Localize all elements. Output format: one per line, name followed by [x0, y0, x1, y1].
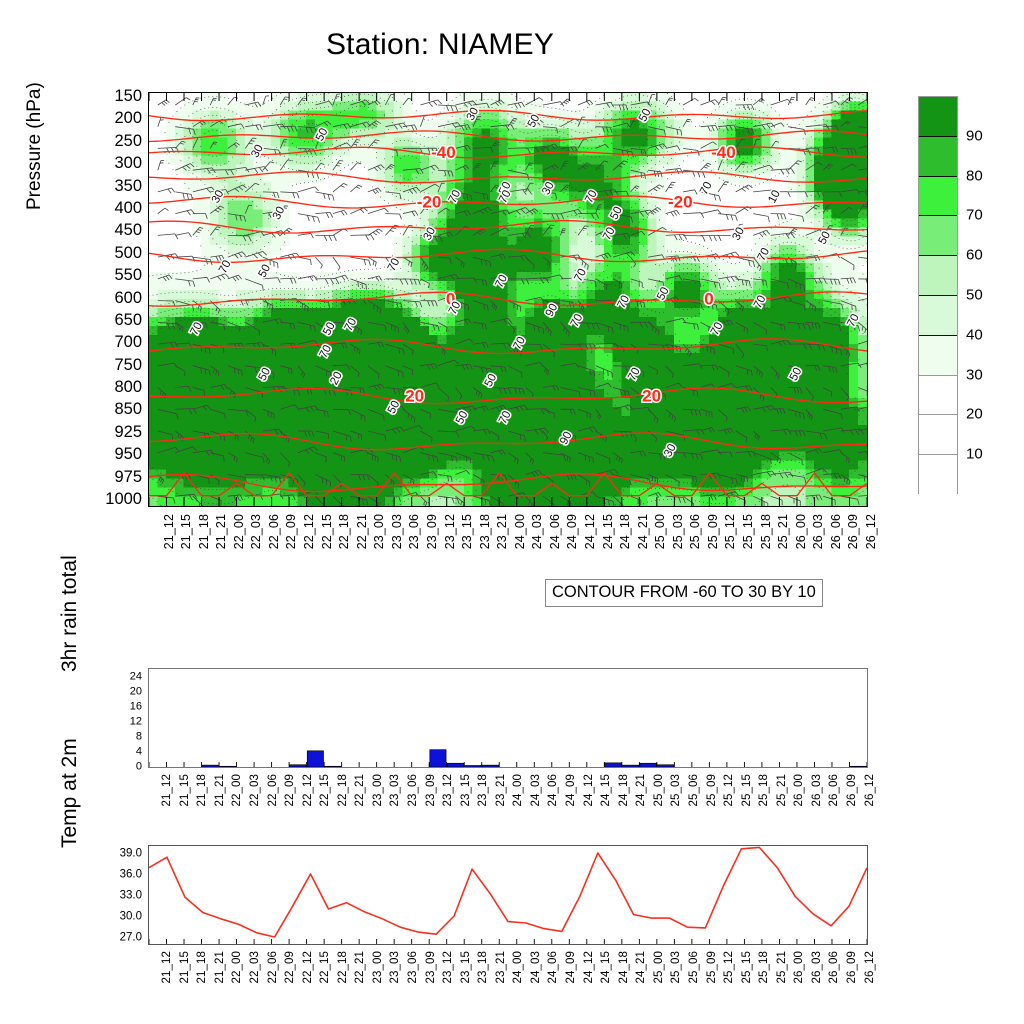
x-axis-label: 22_21: [354, 951, 366, 983]
x-axis-label: 22_09: [284, 774, 296, 806]
cross-section-x-axis: 21_1221_1521_1821_2122_0022_0322_0622_09…: [148, 512, 868, 574]
x-axis-label: 21_18: [196, 951, 208, 983]
x-axis-label: 24_03: [530, 514, 544, 549]
temp-tick-label: 39.0: [120, 849, 142, 861]
x-axis-label: 26_09: [846, 514, 860, 549]
colorbar-band: [919, 137, 957, 177]
x-axis-label: 22_00: [232, 514, 246, 549]
x-axis-label: 24_09: [565, 774, 577, 806]
rain-tick-label: 4: [136, 746, 142, 757]
pressure-tick-label: 950: [114, 446, 142, 463]
pressure-tick-label: 650: [114, 312, 142, 329]
pressure-tick-label: 600: [114, 289, 142, 306]
x-axis-label: 26_06: [828, 774, 840, 806]
pressure-axis: 1502002503003504004505005506006507007508…: [96, 92, 142, 507]
pressure-tick-label: 350: [114, 177, 142, 194]
x-axis-label: 23_18: [477, 951, 489, 983]
x-axis-label: 25_06: [688, 774, 700, 806]
x-axis-label: 23_18: [477, 774, 489, 806]
temp-y-axis: 27.030.033.036.039.0: [96, 845, 142, 945]
pressure-tick-label: 750: [114, 356, 142, 373]
x-axis-label: 23_03: [389, 951, 401, 983]
x-axis-label: 23_00: [372, 951, 384, 983]
x-axis-label: 23_18: [478, 514, 492, 549]
pressure-tick-label: 300: [114, 155, 142, 172]
x-axis-label: 22_03: [249, 951, 261, 983]
pressure-tick-label: 850: [114, 401, 142, 418]
x-axis-label: 22_06: [267, 774, 279, 806]
pressure-tick-label: 1000: [105, 491, 142, 508]
rain-tick-label: 16: [130, 701, 142, 712]
x-axis-label: 24_12: [583, 514, 597, 549]
rain-plot[interactable]: [148, 668, 868, 768]
temp-tick-label: 36.0: [120, 870, 142, 882]
x-axis-label: 23_21: [495, 774, 507, 806]
x-axis-label: 24_00: [512, 774, 524, 806]
x-axis-label: 22_12: [302, 514, 316, 549]
x-axis-label: 25_18: [759, 514, 773, 549]
cross-section-canvas: -40-40-20-200020203050505030303050707030…: [149, 93, 867, 506]
x-axis-label: 23_12: [442, 951, 454, 983]
x-axis-label: 22_12: [302, 774, 314, 806]
x-axis-label: 21_18: [196, 774, 208, 806]
pressure-tick-label: 550: [114, 267, 142, 284]
x-axis-label: 24_06: [548, 514, 562, 549]
x-axis-label: 21_21: [214, 951, 226, 983]
x-axis-label: 25_18: [758, 774, 770, 806]
x-axis-label: 26_09: [846, 951, 858, 983]
x-axis-label: 23_09: [425, 951, 437, 983]
x-axis-label: 22_03: [249, 774, 261, 806]
x-axis-label: 24_06: [547, 774, 559, 806]
x-axis-label: 22_06: [267, 514, 281, 549]
x-axis-label: 25_09: [706, 951, 718, 983]
x-axis-label: 24_00: [512, 951, 524, 983]
pressure-tick-label: 975: [114, 468, 142, 485]
x-axis-label: 23_00: [372, 774, 384, 806]
x-axis-label: 21_12: [161, 951, 173, 983]
cross-section-plot[interactable]: -40-40-20-200020203050505030303050707030…: [148, 92, 868, 507]
colorbar-label: 30: [966, 367, 983, 382]
x-axis-label: 24_21: [636, 514, 650, 549]
x-axis-label: 26_06: [828, 951, 840, 983]
x-axis-label: 21_21: [214, 514, 228, 549]
x-axis-label: 24_18: [618, 514, 632, 549]
x-axis-label: 23_21: [495, 514, 509, 549]
x-axis-label: 23_00: [372, 514, 386, 549]
rain-tick-label: 20: [130, 686, 142, 697]
x-axis-label: 24_09: [565, 951, 577, 983]
x-axis-label: 23_06: [407, 514, 421, 549]
pressure-tick-label: 400: [114, 200, 142, 217]
x-axis-label: 25_21: [776, 951, 788, 983]
x-axis-label: 22_21: [354, 774, 366, 806]
x-axis-label: 23_09: [425, 774, 437, 806]
colorbar-band: [919, 455, 957, 495]
rain-x-axis: 21_1221_1521_1821_2122_0022_0322_0622_09…: [148, 772, 868, 834]
rain-tick-label: 8: [136, 731, 142, 742]
colorbar-band: [919, 97, 957, 137]
x-axis-label: 25_03: [670, 774, 682, 806]
temp-plot[interactable]: [148, 845, 868, 945]
x-axis-label: 26_12: [864, 774, 876, 806]
x-axis-label: 22_18: [337, 774, 349, 806]
x-axis-label: 26_03: [811, 951, 823, 983]
temp-tick-label: 27.0: [120, 933, 142, 945]
x-axis-label: 25_18: [758, 951, 770, 983]
x-axis-label: 26_00: [794, 514, 808, 549]
pressure-tick-label: 450: [114, 222, 142, 239]
x-axis-label: 23_09: [425, 514, 439, 549]
rain-tick-label: 0: [136, 762, 142, 773]
x-axis-label: 24_03: [530, 774, 542, 806]
colorbar-band: [919, 296, 957, 336]
x-axis-label: 26_12: [864, 951, 876, 983]
x-axis-label: 24_15: [601, 514, 615, 549]
pressure-tick-label: 700: [114, 334, 142, 351]
x-axis-label: 25_00: [653, 514, 667, 549]
colorbar-label: 50: [966, 288, 983, 303]
x-axis-label: 22_00: [231, 774, 243, 806]
x-axis-label: 26_03: [811, 774, 823, 806]
colorbar-band: [919, 415, 957, 455]
x-axis-label: 25_12: [723, 514, 737, 549]
x-axis-label: 22_18: [337, 514, 351, 549]
x-axis-label: 22_03: [249, 514, 263, 549]
pressure-axis-title: Pressure (hPa): [24, 0, 46, 210]
x-axis-label: 21_12: [161, 774, 173, 806]
x-axis-label: 24_12: [583, 951, 595, 983]
x-axis-label: 24_12: [583, 774, 595, 806]
colorbar-label: 60: [966, 248, 983, 263]
x-axis-label: 23_03: [390, 514, 404, 549]
pressure-tick-label: 200: [114, 110, 142, 127]
x-axis-label: 23_12: [442, 774, 454, 806]
humidity-colorbar: [918, 96, 958, 494]
x-axis-label: 25_21: [776, 774, 788, 806]
x-axis-label: 22_09: [284, 514, 298, 549]
rain-tick-label: 12: [130, 716, 142, 727]
x-axis-label: 22_12: [302, 951, 314, 983]
rain-tick-label: 24: [130, 671, 142, 682]
x-axis-label: 24_21: [635, 774, 647, 806]
x-axis-label: 25_06: [688, 951, 700, 983]
x-axis-label: 25_09: [706, 774, 718, 806]
x-axis-label: 24_15: [600, 951, 612, 983]
x-axis-label: 22_21: [355, 514, 369, 549]
x-axis-label: 24_06: [547, 951, 559, 983]
x-axis-label: 25_12: [723, 951, 735, 983]
x-axis-label: 22_18: [337, 951, 349, 983]
temp-tick-label: 33.0: [120, 891, 142, 903]
x-axis-label: 26_06: [829, 514, 843, 549]
x-axis-label: 23_12: [443, 514, 457, 549]
page-title: Station: NIAMEY: [0, 28, 880, 62]
contour-note: CONTOUR FROM -60 TO 30 BY 10: [545, 579, 823, 607]
x-axis-label: 21_21: [214, 774, 226, 806]
x-axis-label: 22_09: [284, 951, 296, 983]
pressure-tick-label: 150: [114, 88, 142, 105]
x-axis-label: 21_12: [162, 514, 176, 549]
x-axis-label: 25_09: [706, 514, 720, 549]
pressure-tick-label: 800: [114, 379, 142, 396]
rain-canvas: [149, 669, 867, 767]
x-axis-label: 24_21: [635, 951, 647, 983]
x-axis-label: 21_15: [179, 774, 191, 806]
x-axis-label: 26_12: [864, 514, 878, 549]
x-axis-label: 25_03: [670, 951, 682, 983]
x-axis-label: 25_06: [688, 514, 702, 549]
pressure-tick-label: 925: [114, 424, 142, 441]
colorbar-band: [919, 177, 957, 217]
colorbar-label: 40: [966, 327, 983, 342]
x-axis-label: 24_00: [513, 514, 527, 549]
x-axis-label: 22_15: [319, 774, 331, 806]
x-axis-label: 22_00: [231, 951, 243, 983]
x-axis-label: 23_03: [389, 774, 401, 806]
rain-y-axis: 04812162024: [100, 668, 142, 768]
x-axis-label: 25_15: [741, 951, 753, 983]
x-axis-label: 25_12: [723, 774, 735, 806]
temp-canvas: [149, 846, 867, 944]
x-axis-label: 24_18: [618, 951, 630, 983]
x-axis-label: 26_09: [846, 774, 858, 806]
temp-axis-title: Temp at 2m: [58, 628, 82, 848]
x-axis-label: 25_00: [653, 774, 665, 806]
x-axis-label: 25_15: [741, 514, 755, 549]
x-axis-label: 24_15: [600, 774, 612, 806]
x-axis-label: 21_15: [179, 514, 193, 549]
temp-x-axis: 21_1221_1521_1821_2122_0022_0322_0622_09…: [148, 949, 868, 1011]
x-axis-label: 21_18: [197, 514, 211, 549]
x-axis-label: 23_06: [407, 774, 419, 806]
colorbar-label: 80: [966, 168, 983, 183]
x-axis-label: 22_15: [320, 514, 334, 549]
colorbar-band: [919, 336, 957, 376]
colorbar-band: [919, 256, 957, 296]
x-axis-label: 25_21: [776, 514, 790, 549]
x-axis-label: 23_15: [460, 514, 474, 549]
x-axis-label: 25_00: [653, 951, 665, 983]
colorbar-label: 90: [966, 128, 983, 143]
x-axis-label: 25_15: [741, 774, 753, 806]
colorbar-label: 70: [966, 208, 983, 223]
x-axis-label: 26_03: [811, 514, 825, 549]
x-axis-label: 24_09: [565, 514, 579, 549]
humidity-colorbar-labels: 908070605040302010: [966, 96, 1012, 494]
pressure-tick-label: 500: [114, 244, 142, 261]
x-axis-label: 21_15: [179, 951, 191, 983]
colorbar-label: 10: [966, 447, 983, 462]
x-axis-label: 26_00: [793, 951, 805, 983]
x-axis-label: 23_15: [460, 774, 472, 806]
x-axis-label: 24_03: [530, 951, 542, 983]
x-axis-label: 23_15: [460, 951, 472, 983]
x-axis-label: 22_06: [267, 951, 279, 983]
x-axis-label: 22_15: [319, 951, 331, 983]
pressure-tick-label: 250: [114, 133, 142, 150]
x-axis-label: 26_00: [793, 774, 805, 806]
colorbar-band: [919, 216, 957, 256]
x-axis-label: 25_03: [671, 514, 685, 549]
x-axis-label: 24_18: [618, 774, 630, 806]
temp-tick-label: 30.0: [120, 912, 142, 924]
x-axis-label: 23_21: [495, 951, 507, 983]
x-axis-label: 23_06: [407, 951, 419, 983]
colorbar-band: [919, 376, 957, 416]
colorbar-label: 20: [966, 407, 983, 422]
